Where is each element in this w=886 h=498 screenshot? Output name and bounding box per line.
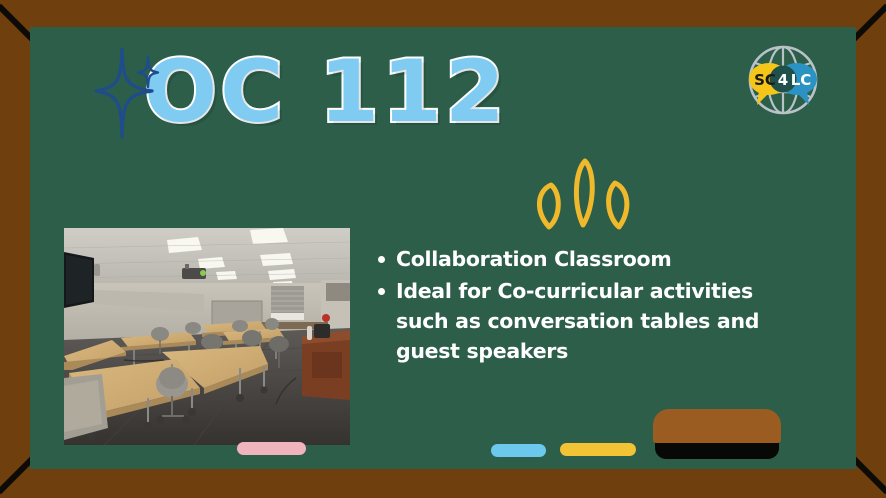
logo-4-text: 4 — [778, 71, 788, 89]
petal-flourish-decoration — [525, 155, 645, 235]
list-item: Ideal for Co-curricular activities such … — [378, 277, 770, 367]
bullet-dot-icon — [378, 288, 385, 295]
collaboration-classroom-photo — [64, 228, 350, 445]
slide-canvas: OC 112 — [0, 0, 886, 498]
chalk-yellow — [560, 443, 636, 456]
chalk-pink — [237, 442, 306, 455]
page-title: OC 112 — [144, 49, 508, 135]
sc4lc-globe-logo: SC 4 LC — [735, 32, 831, 128]
list-item-label: Collaboration Classroom — [396, 245, 671, 275]
chalkboard-eraser — [653, 408, 781, 459]
list-item-label: Ideal for Co-curricular activities such … — [396, 277, 770, 367]
list-item: Collaboration Classroom — [378, 245, 770, 275]
logo-lc-text: LC — [791, 71, 812, 89]
sparkle-decoration — [94, 37, 160, 147]
bullet-dot-icon — [378, 256, 385, 263]
chalk-blue — [491, 444, 546, 457]
bullet-list: Collaboration Classroom Ideal for Co-cur… — [378, 245, 770, 369]
window — [271, 286, 304, 320]
eraser-body — [653, 409, 781, 443]
chalkboard-surface: OC 112 — [30, 27, 856, 469]
title-block: OC 112 — [94, 37, 508, 147]
logo-sc-text: SC — [754, 71, 776, 89]
